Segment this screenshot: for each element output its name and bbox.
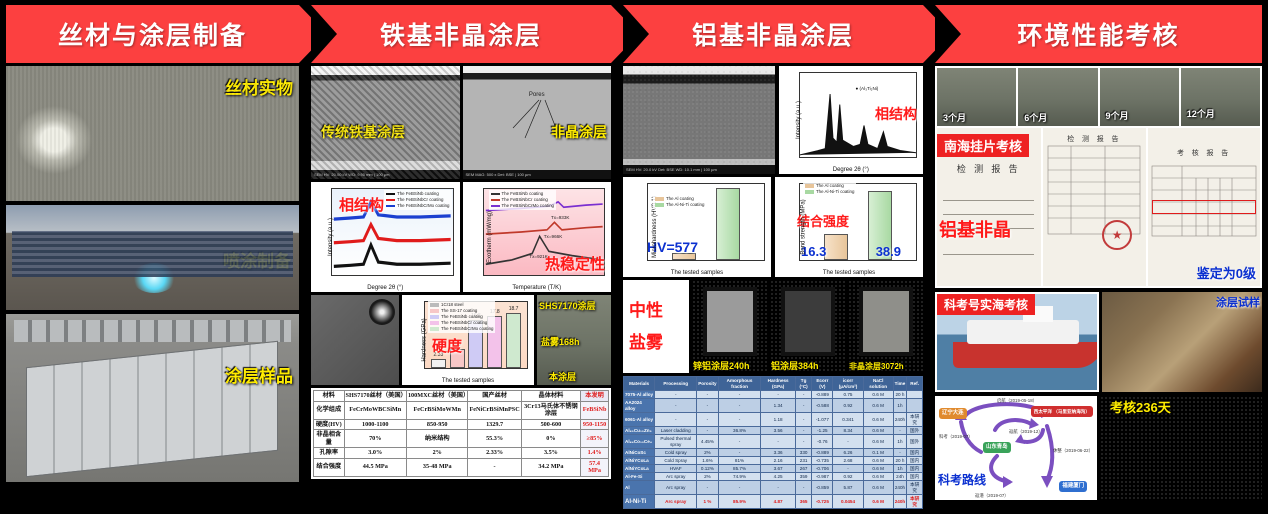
td: 0.6 M — [863, 435, 893, 449]
td: 500-600 — [521, 419, 580, 430]
banner-label: 铁基非晶涂层 — [380, 16, 542, 52]
td — [907, 391, 923, 399]
poster-root: 丝材与涂层制备 丝材实物 喷涂制备 涂层样品 铁基非晶涂层 传统铁基涂层 SEM… — [0, 0, 1268, 514]
table-row: 孔隙率 3.0% 2% 2.33% 3.5% 1.4% — [314, 448, 609, 459]
td: 0.6 M — [863, 465, 893, 473]
td: 240h — [893, 413, 907, 427]
td: - — [697, 391, 718, 399]
route-node-xiamen: 福建厦门 — [1059, 481, 1087, 492]
exposure-plate-row: 3个月 6个月 9个月 12个月 — [937, 68, 1260, 126]
td: 240h — [893, 495, 907, 509]
td: 0.6 M — [863, 473, 893, 481]
photo-coating-samples: 涂层样品 — [6, 314, 299, 482]
td: - — [795, 413, 812, 427]
bar: 2.33 — [431, 359, 446, 368]
td: 1h — [893, 399, 907, 413]
table-row: Al₈₅Cu₁₅Zn₅Laser cladding-36.8%3.56--1.2… — [624, 427, 923, 435]
td: 6061-Al alloy — [624, 413, 655, 427]
micrograph-amorphous-coating: Pores 非晶涂层 SEM MAG: 500 x Det: BSE | 100… — [463, 66, 612, 179]
caption-coating-specimen: 涂层试样 — [1216, 294, 1260, 310]
dsc-ylabel: Exotherm (mW/mg) — [487, 211, 493, 263]
td: -0.588 — [812, 399, 833, 413]
chart-hardness: 2.33 5.9 16.5 17.8 18.7 1Cr18 steel The … — [402, 295, 534, 385]
caption-traditional-coating: 传统铁基涂层 — [321, 122, 405, 142]
caption-neutral: 中性 — [629, 296, 663, 321]
card-research-vessel: 科考号实海考核 — [935, 292, 1099, 392]
td: 1329.7 — [468, 419, 521, 430]
td: - — [761, 391, 795, 399]
td: -0.889 — [812, 449, 833, 457]
caption-amorphous-3072h: 非晶涂层3072h — [849, 361, 904, 372]
legend-item: The FeBSiNbCrMo coating — [502, 203, 554, 209]
banner-label: 铝基非晶涂层 — [692, 16, 854, 52]
th: icorr (µA/cm²) — [833, 377, 863, 391]
bar-al-coating — [824, 234, 848, 260]
td: 44.5 MPa — [344, 458, 406, 476]
td: 0.92 — [833, 399, 863, 413]
bar-value: 18.7 — [509, 306, 519, 312]
td: 231 — [795, 457, 812, 465]
td: - — [893, 427, 907, 435]
td: FeCrBSiMoWMn — [406, 401, 468, 419]
banner-wire-coating-prep: 丝材与涂层制备 — [6, 5, 299, 63]
photo-zn-al-coating-240h: 锌铝涂层240h — [692, 280, 767, 373]
td: 3.0% — [344, 448, 406, 459]
td: 本研究 — [907, 413, 923, 427]
td: - — [655, 413, 697, 427]
td: - — [697, 399, 718, 413]
td: 国内 — [907, 473, 923, 481]
td: 孔隙率 — [314, 448, 345, 459]
td: - — [795, 391, 812, 399]
td: 950-1150 — [581, 419, 609, 430]
sem-scalebar-left: SEM HV: 20.00 kV WD: 9.95 mm | 100 µm — [311, 170, 460, 179]
caption-spray-prep: 喷涂制备 — [223, 247, 291, 272]
th: Ecorr (V) — [812, 377, 833, 391]
td: - — [697, 413, 718, 427]
hardness-xlabel: The tested samples — [402, 378, 534, 384]
exposure-plate-6m: 6个月 — [1018, 68, 1097, 126]
td: 2% — [406, 448, 468, 459]
caption-shs7170-coating: SHS7170涂层 — [539, 299, 596, 312]
hardness-ylabel: Hardness (GPa) — [422, 318, 428, 361]
caption-salt-spray: 盐雾 — [629, 328, 663, 353]
td: - — [718, 413, 761, 427]
td: -0.725 — [812, 495, 833, 509]
document-title: 考 核 报 告 — [1148, 128, 1260, 158]
td: 55.3% — [468, 430, 521, 448]
caption-thermal-stability: 热稳定性 — [545, 253, 605, 274]
photo-amorphous-coating-3072h: 非晶涂层3072h — [848, 280, 923, 373]
report-documents-row: 检 测 报 告 南海挂片考核 铝基非晶 检 测 报 告 — [937, 128, 1260, 286]
td: 36.8% — [718, 427, 761, 435]
photo-spray-booth: 喷涂制备 — [6, 205, 299, 310]
td: 1.18 — [761, 413, 795, 427]
th: Amorphous fraction — [718, 377, 761, 391]
materials-table: Materials Processing Porosity Amorphous … — [623, 376, 923, 509]
table-row: 硬度(HV) 1000-1100 850-950 1329.7 500-600 … — [314, 419, 609, 430]
caption-12-months: 12个月 — [1187, 107, 1215, 120]
th: Ref. — [907, 377, 923, 391]
td: 267 — [795, 465, 812, 473]
photo-wire-spools: 丝材实物 — [6, 66, 299, 201]
td: 81% — [718, 457, 761, 465]
table-header-row: Materials Processing Porosity Amorphous … — [624, 377, 923, 391]
td: Cold Spray — [655, 457, 697, 465]
td: - — [893, 449, 907, 457]
td: - — [718, 391, 761, 399]
caption-phase-structure: 相结构 — [339, 194, 384, 215]
column-environmental-performance: 环境性能考核 3个月 6个月 9个月 12个月 — [929, 0, 1268, 514]
td: 本研究 — [907, 481, 923, 495]
th: NaCl solution — [863, 377, 893, 391]
spray-flare-icon — [132, 263, 176, 293]
td: 85.7% — [718, 465, 761, 473]
micrograph-cross-section: SEM HV: 20.0 kV Det: BSE WD: 10.1 mm | 1… — [623, 66, 775, 174]
table-row: 化学组成 FeCrMoWBCSiMn FeCrBSiMoWMn FeNiCrBS… — [314, 401, 609, 419]
bond-legend: The Al coating The Al-Ni-Ti coating — [803, 182, 856, 196]
bar: 18.7 — [506, 313, 521, 368]
td: 330 — [795, 449, 812, 457]
td: - — [795, 399, 812, 413]
td: 57.4 MPa — [581, 458, 609, 476]
photo-salt-spray-specimens: SHS7170涂层 盐雾168h 本涂层 — [537, 295, 611, 385]
banner-fe-based-coating: 铁基非晶涂层 — [311, 5, 611, 63]
td: FeCrMoWBCSiMn — [344, 401, 406, 419]
td: 1.34 — [761, 399, 795, 413]
td: 0% — [521, 430, 580, 448]
td: Laser cladding — [655, 427, 697, 435]
th: 材料 — [314, 391, 345, 402]
td: 0.6 M — [863, 427, 893, 435]
th: Hardness (GPa) — [761, 377, 795, 391]
caption-our-coating: 本涂层 — [549, 370, 576, 383]
td: 2.33% — [468, 448, 521, 459]
th: 晶体材料 — [521, 391, 580, 402]
highlight-box — [1152, 200, 1256, 214]
td: Al — [624, 481, 655, 495]
td: 1h — [893, 465, 907, 473]
td: 4.25 — [761, 473, 795, 481]
td: 7075-Al alloy — [624, 391, 655, 399]
td: 0.0454 — [833, 495, 863, 509]
td: 0.92 — [833, 473, 863, 481]
td: 0.6 M — [863, 457, 893, 465]
td: Al-Ni-Ti — [624, 495, 655, 509]
td: 34.2 MPa — [521, 458, 580, 476]
td: - — [718, 399, 761, 413]
caption-phase-structure-al: 相结构 — [875, 104, 917, 124]
td: 0.6 M — [863, 413, 893, 427]
specimen — [859, 287, 913, 357]
caption-236-days: 考核236天 — [1110, 397, 1171, 416]
document-test-report-1: 检 测 报 告 南海挂片考核 铝基非晶 — [937, 128, 1041, 286]
td: 2.16 — [761, 457, 795, 465]
td: 2.68 — [833, 457, 863, 465]
document-test-report-2: 检 测 报 告 ★ — [1043, 128, 1147, 286]
exposure-plate-3m: 3个月 — [937, 68, 1016, 126]
td — [907, 399, 923, 413]
route-edge-label: 返航（2019-12） — [1009, 429, 1043, 435]
td: - — [718, 449, 761, 457]
td: Arc spray — [655, 495, 697, 509]
micrograph-tem — [311, 295, 399, 385]
table-row: AlNiYCoLaHVAF0.12%85.7%3.67267-0.706-0.6… — [624, 465, 923, 473]
td: 24h — [893, 473, 907, 481]
td: - — [718, 481, 761, 495]
label-neutral-salt-spray: 中性 盐雾 — [623, 280, 689, 373]
td: 4.87 — [761, 495, 795, 509]
bar-alniti-coating — [716, 188, 740, 260]
notch-left-icon — [311, 5, 337, 63]
sem-scalebar-right: SEM MAG: 500 x Det: BSE | 100 µm — [463, 170, 612, 179]
td: 0.6 M — [863, 391, 893, 399]
legend-item: The Al-Ni-Ti coating — [666, 202, 704, 208]
caption-grade-0: 鉴定为0级 — [1197, 263, 1256, 282]
notch-left-icon — [935, 5, 961, 63]
ship-hull — [953, 342, 1097, 368]
td: - — [655, 399, 697, 413]
th: 国产丝材 — [468, 391, 521, 402]
bond-ylabel: Bond strength (MPa) — [801, 199, 807, 254]
texture-overlay — [623, 66, 775, 174]
td: - — [833, 465, 863, 473]
td: Al₈₅Cu₁₅Zn₅ — [624, 427, 655, 435]
td: 1h — [893, 435, 907, 449]
caption-hardness: 硬度 — [432, 335, 462, 356]
exposure-plate-12m: 12个月 — [1181, 68, 1260, 126]
td: 5.87 — [833, 481, 863, 495]
td: - — [655, 391, 697, 399]
table-row-highlight: Al-Ni-TiArc spray1 %85.9%4.87365-0.7250.… — [624, 495, 923, 509]
chart-xrd-al: ● (Al₃Ti₂Ni) 相结构 Intensity (a.u.) Degree… — [779, 66, 923, 174]
route-node-west-pacific: 西太平洋 （马里亚纳海沟） — [1031, 406, 1093, 417]
td: - — [718, 435, 761, 449]
td: -0.987 — [812, 473, 833, 481]
td: 0.75 — [833, 391, 863, 399]
td: 0.12% — [697, 465, 718, 473]
table-materials-comparison: Materials Processing Porosity Amorphous … — [623, 376, 923, 509]
caption-9-months: 9个月 — [1106, 109, 1129, 122]
td: - — [795, 481, 812, 495]
td: 365 — [795, 495, 812, 509]
saed-pattern-icon — [369, 299, 395, 325]
ship-deck — [967, 320, 1079, 344]
route-edge-label: 休整（2019-06-22） — [1053, 448, 1093, 454]
td: 850-950 — [406, 419, 468, 430]
diagram-research-route: 辽宁大连 西太平洋 （马里亚纳海沟） 山东青岛 福建厦门 启航（2019-05-… — [935, 396, 1097, 500]
microhardness-xlabel: The tested samples — [623, 270, 771, 276]
td: 359 — [795, 473, 812, 481]
column-wire-coating-prep: 丝材与涂层制备 丝材实物 喷涂制备 涂层样品 — [0, 0, 305, 514]
td: 1.6% — [697, 457, 718, 465]
td: -0.859 — [812, 481, 833, 495]
xrd-xlabel: Degree 2θ (°) — [311, 285, 460, 291]
xrd-legend: The FeBSiNb coating The FeBSiNbCr coatin… — [384, 190, 451, 210]
caption-salt-168h: 盐雾168h — [541, 335, 580, 348]
table-header-row: 材料 SHS7170丝材（美国） 100MXC丝材（美国） 国产丝材 晶体材料 … — [314, 391, 609, 402]
td: 3.36 — [761, 449, 795, 457]
sem-scalebar: SEM HV: 20.0 kV Det: BSE WD: 10.1 mm | 1… — [623, 165, 775, 174]
td: -0.889 — [812, 391, 833, 399]
td: 国内 — [907, 449, 923, 457]
photo-al-coating-384h: 铝涂层384h — [770, 280, 845, 373]
td: - — [795, 427, 812, 435]
td: ≥85% — [581, 430, 609, 448]
td: -0.76 — [812, 435, 833, 449]
td: Al-Fe-Si — [624, 473, 655, 481]
td: 0.6 M — [863, 399, 893, 413]
xrd-al-annotation: ● (Al₃Ti₂Ni) — [855, 86, 878, 91]
td: AA2024 alloy — [624, 399, 655, 413]
td: FeBSiNb — [581, 401, 609, 419]
th: Processing — [655, 377, 697, 391]
table-row: AlNiYCoLaCold Spray1.6%81%2.16231-0.7352… — [624, 457, 923, 465]
td: -0.706 — [812, 465, 833, 473]
td: 国内 — [907, 465, 923, 473]
dsc-annotation: Tx=966K — [544, 234, 563, 239]
table-row: Al-Fe-SiArc spray2%74.9%4.25359-0.9870.9… — [624, 473, 923, 481]
th: Porosity — [697, 377, 718, 391]
td: HVAF — [655, 465, 697, 473]
bond-xlabel: The tested samples — [775, 270, 923, 276]
td: 0.6 M — [863, 495, 893, 509]
td: 240h — [893, 481, 907, 495]
table-row: 结合强度 44.5 MPa 35-48 MPa - 34.2 MPa 57.4 … — [314, 458, 609, 476]
td: 1.4% — [581, 448, 609, 459]
caption-al-based-amorphous: 铝基非晶 — [939, 216, 1011, 242]
td: Al₈₆Co₁₀Ce₄ — [624, 435, 655, 449]
photo-exposed-plate-236days: 考核236天 — [1100, 396, 1262, 500]
table-row: Al₈₆Co₁₀Ce₄Pulsed thermal spray4.45%----… — [624, 435, 923, 449]
route-edge-label: 返港（2019-07） — [975, 493, 1009, 499]
micrograph-traditional-coating: 传统铁基涂层 SEM HV: 20.00 kV WD: 9.95 mm | 10… — [311, 66, 460, 179]
th: SHS7170丝材（美国） — [344, 391, 406, 402]
caption-3-months: 3个月 — [943, 111, 966, 124]
td: 85.9% — [718, 495, 761, 509]
td: 国外 — [907, 435, 923, 449]
chart-dsc-thermal-stability: Tx=933K Tx=966K Tx=921K The FeBSiNb coat… — [463, 182, 612, 292]
column-al-based-coating: 铝基非晶涂层 SEM HV: 20.0 kV Det: BSE WD: 10.1… — [617, 0, 929, 514]
th: Time — [893, 377, 907, 391]
dsc-legend: The FeBSiNb coating The FeBSiNbCr coatin… — [489, 190, 556, 210]
td: 结合强度 — [314, 458, 345, 476]
td: 8.34 — [833, 427, 863, 435]
td: 1 % — [697, 495, 718, 509]
comparison-table: 材料 SHS7170丝材（美国） 100MXC丝材（美国） 国产丝材 晶体材料 … — [313, 390, 609, 477]
route-node-qingdao: 山东青岛 — [983, 442, 1011, 453]
td: FeNiCrBSiMnPSC — [468, 401, 521, 419]
legend-item: The Al-Ni-Ti coating — [816, 189, 854, 195]
th: Materials — [624, 377, 655, 391]
table-coating-comparison: 材料 SHS7170丝材（美国） 100MXC丝材（美国） 国产丝材 晶体材料 … — [311, 388, 611, 479]
td: 非晶相含量 — [314, 430, 345, 448]
td: 0.6 M — [863, 481, 893, 495]
td: 20 h — [893, 391, 907, 399]
th: 100MXC丝材（美国） — [406, 391, 468, 402]
td: 35-48 MPa — [406, 458, 468, 476]
td: 本研究 — [907, 495, 923, 509]
specimen — [703, 287, 757, 357]
caption-coating-samples: 涂层样品 — [225, 362, 293, 387]
sea-trial-row: 科考号实海考核 涂层试样 — [935, 292, 1262, 392]
route-edge-label: 科考（2019-07） — [939, 434, 973, 440]
chart-microhardness-al: The Al coating The Al-Ni-Ti coating HV=5… — [623, 177, 771, 277]
banner-environmental-performance: 环境性能考核 — [935, 5, 1262, 63]
route-edge-label: 启航（2019-05-18） — [997, 398, 1037, 404]
td: - — [697, 427, 718, 435]
td: -0.735 — [812, 457, 833, 465]
value-bond-alniti: 38.9 — [876, 244, 901, 259]
column-fe-based-coating: 铁基非晶涂层 传统铁基涂层 SEM HV: 20.00 kV WD: 9.95 … — [305, 0, 617, 514]
td: 硬度(HV) — [314, 419, 345, 430]
caption-amorphous-coating: 非晶涂层 — [551, 122, 607, 142]
td: - — [697, 481, 718, 495]
caption-zn-al-240h: 锌铝涂层240h — [693, 359, 750, 372]
td: 3Cr13马氏体不锈钢涂层 — [521, 401, 580, 419]
td: 3.5% — [521, 448, 580, 459]
td: - — [761, 481, 795, 495]
dsc-annotation: Tx=933K — [551, 215, 570, 220]
td: 0.1 M — [863, 449, 893, 457]
td: Arc spray — [655, 481, 697, 495]
td: Cold spray — [655, 449, 697, 457]
card-nanhai-exposure: 3个月 6个月 9个月 12个月 检 测 报 告 南海挂片考核 — [935, 66, 1262, 288]
table-row: AA2024 alloy---1.34--0.5880.920.6 M1h — [624, 399, 923, 413]
table-row: 非晶相含量 70% 纳米结构 55.3% 0% ≥85% — [314, 430, 609, 448]
table-row: AlArc spray-----0.8595.870.6 M240h本研究 — [624, 481, 923, 495]
banner-label: 环境性能考核 — [1017, 16, 1179, 52]
td: 化学组成 — [314, 401, 345, 419]
td: 70% — [344, 430, 406, 448]
td: - — [761, 435, 795, 449]
td: - — [795, 435, 812, 449]
td: 国外 — [907, 427, 923, 435]
td: 74.9% — [718, 473, 761, 481]
caption-route-title: 科考路线 — [938, 471, 986, 488]
caption-sea-trial: 科考号实海考核 — [937, 294, 1035, 315]
td: Arc spray — [655, 473, 697, 481]
td: 0.341 — [833, 413, 863, 427]
notch-left-icon — [623, 5, 649, 63]
td: Pulsed thermal spray — [655, 435, 697, 449]
td: 4.45% — [697, 435, 718, 449]
document-assessment-report: 考 核 报 告 鉴定为0级 — [1148, 128, 1260, 286]
td: 2% — [697, 449, 718, 457]
td: AlNiYCoLa — [624, 457, 655, 465]
route-and-result-row: 辽宁大连 西太平洋 （马里亚纳海沟） 山东青岛 福建厦门 启航（2019-05-… — [935, 396, 1262, 500]
xrd-al-xlabel: Degree 2θ (°) — [779, 167, 923, 173]
chart-xrd-phase-structure: The FeBSiNb coating The FeBSiNbCr coatin… — [311, 182, 460, 292]
table-row: AlNiCoScCold spray2%-3.36330-0.8896.260.… — [624, 449, 923, 457]
td: - — [468, 458, 521, 476]
td: 3.67 — [761, 465, 795, 473]
chart-bond-strength: The Al coating The Al-Ni-Ti coating 结合强度… — [775, 177, 923, 277]
caption-al-384h: 铝涂层384h — [771, 359, 819, 372]
td: AlNiYCoLa — [624, 465, 655, 473]
hardness-legend: 1Cr18 steel The SS-17 coating The FeBSiN… — [428, 301, 495, 333]
route-node-dalian: 辽宁大连 — [939, 408, 967, 419]
microhardness-legend: The Al coating The Al-Ni-Ti coating — [653, 195, 706, 209]
legend-item: The FeBSiNbCrMo coating — [441, 326, 493, 332]
xrd-ylabel: Intensity (a.u.) — [328, 218, 334, 256]
td: 3.56 — [761, 427, 795, 435]
photo-coating-specimen: 涂层试样 — [1102, 292, 1262, 392]
td: 纳米结构 — [406, 430, 468, 448]
td: 20 h — [893, 457, 907, 465]
td: -1.25 — [812, 427, 833, 435]
td: 6.26 — [833, 449, 863, 457]
